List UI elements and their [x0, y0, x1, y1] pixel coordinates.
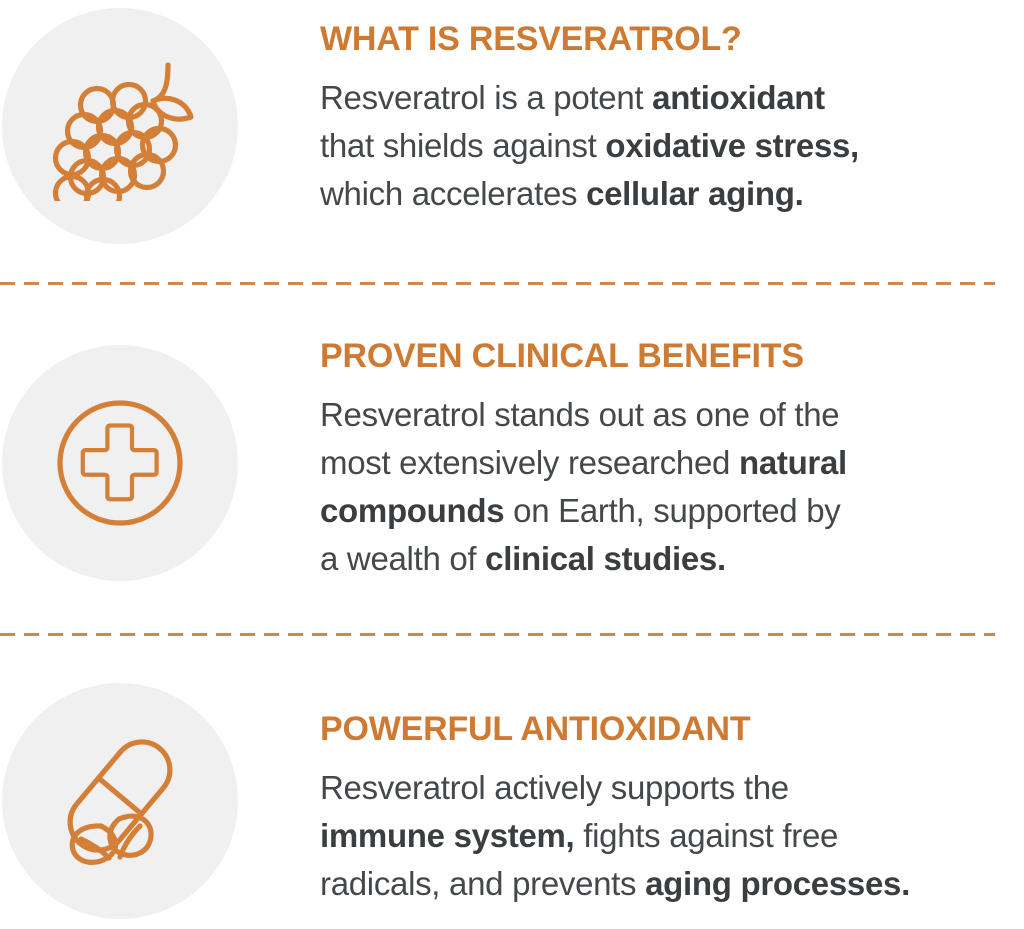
feature-heading: POWERFUL ANTIOXIDANT [320, 712, 1006, 746]
body-text: Resveratrol actively supports the [320, 769, 789, 806]
icon-badge-medical-cross [2, 345, 238, 581]
body-text: Resveratrol is a potent [320, 79, 652, 116]
body-text: radicals, and prevents [320, 865, 645, 902]
body-emphasis: antioxidant [652, 79, 825, 116]
body-line: Resveratrol stands out as one of the [320, 391, 1006, 439]
body-line: Resveratrol actively supports the [320, 764, 1006, 812]
feature-heading: WHAT IS RESVERATROL? [320, 22, 1006, 56]
body-line: Resveratrol is a potent antioxidant [320, 74, 1006, 122]
feature-text-block: WHAT IS RESVERATROL? Resveratrol is a po… [238, 0, 1024, 218]
feature-body: Resveratrol stands out as one of the mos… [320, 391, 1006, 583]
feature-section-powerful-antioxidant: POWERFUL ANTIOXIDANT Resveratrol activel… [0, 636, 1024, 929]
feature-heading: PROVEN CLINICAL BENEFITS [320, 339, 1006, 373]
medical-cross-circle-icon [50, 393, 190, 533]
icon-badge-grapes [2, 8, 238, 244]
feature-body: Resveratrol actively supports the immune… [320, 764, 1006, 908]
body-emphasis: clinical studies. [485, 540, 726, 577]
body-line: radicals, and prevents aging processes. [320, 860, 1006, 908]
body-text: Resveratrol stands out as one of the [320, 396, 839, 433]
body-text: most extensively researched [320, 444, 739, 481]
body-emphasis: compounds [320, 492, 504, 529]
body-line: a wealth of clinical studies. [320, 535, 1006, 583]
body-line: that shields against oxidative stress, [320, 122, 1006, 170]
grapes-icon [45, 51, 195, 201]
feature-body: Resveratrol is a potent antioxidant that… [320, 74, 1006, 218]
resveratrol-infographic: WHAT IS RESVERATROL? Resveratrol is a po… [0, 0, 1024, 929]
body-line: compounds on Earth, supported by [320, 487, 1006, 535]
body-emphasis: cellular aging. [586, 175, 803, 212]
feature-section-what-is-resveratrol: WHAT IS RESVERATROL? Resveratrol is a po… [0, 0, 1024, 283]
body-emphasis: natural [739, 444, 847, 481]
feature-section-proven-clinical-benefits: PROVEN CLINICAL BENEFITS Resveratrol sta… [0, 285, 1024, 634]
feature-text-block: POWERFUL ANTIOXIDANT Resveratrol activel… [238, 636, 1024, 908]
body-emphasis: immune system, [320, 817, 574, 854]
icon-badge-capsule [2, 683, 238, 919]
capsule-leaf-icon [45, 726, 195, 876]
body-emphasis: oxidative stress, [605, 127, 859, 164]
body-text: fights against free [574, 817, 838, 854]
body-text: that shields against [320, 127, 605, 164]
body-text: on Earth, supported by [504, 492, 840, 529]
body-line: most extensively researched natural [320, 439, 1006, 487]
body-text: a wealth of [320, 540, 485, 577]
feature-text-block: PROVEN CLINICAL BENEFITS Resveratrol sta… [238, 285, 1024, 583]
body-line: which accelerates cellular aging. [320, 170, 1006, 218]
body-emphasis: aging processes. [645, 865, 910, 902]
body-text: which accelerates [320, 175, 586, 212]
body-line: immune system, fights against free [320, 812, 1006, 860]
